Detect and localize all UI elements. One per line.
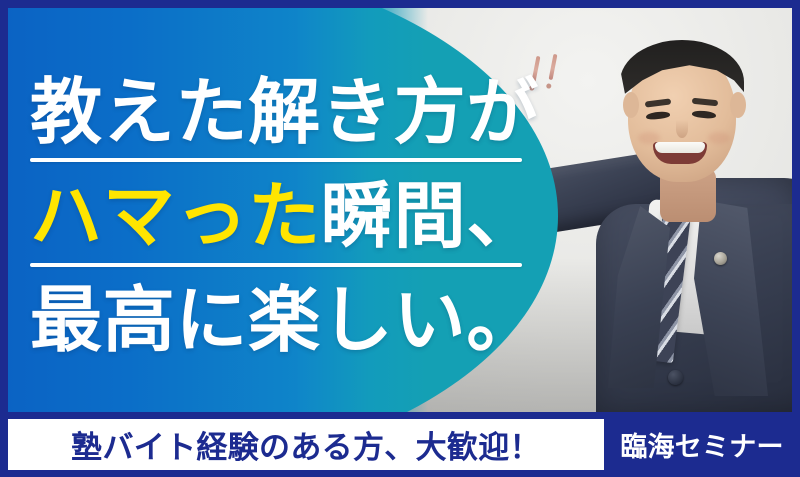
suit-button <box>668 370 683 385</box>
catch-copy-panel: 塾バイト経験のある方、大歓迎！ <box>8 419 604 470</box>
headline-block: 教えた解き方が ハマった瞬間、 最高に楽しい。 <box>16 16 556 412</box>
headline-line-2: ハマった瞬間、 <box>16 174 570 260</box>
ear-right <box>730 92 746 118</box>
cheek-right <box>708 132 730 144</box>
smiling-mouth <box>653 142 707 164</box>
headline-line-1: 教えた解き方が <box>16 70 570 156</box>
headline-line-2-rest: 瞬間、 <box>321 177 539 257</box>
headline-line-3: 最高に楽しい。 <box>16 278 570 364</box>
catch-copy-text: 塾バイト経験のある方、大歓迎！ <box>71 422 541 467</box>
headline-highlight-text: ハマった <box>30 177 321 257</box>
brand-name-text: 臨海セミナー <box>620 425 784 464</box>
recruitment-banner: 教えた解き方が ハマった瞬間、 最高に楽しい。 塾バイト経験のある方、大歓迎！ … <box>0 0 800 477</box>
ear-left <box>623 92 639 118</box>
headline-divider-1 <box>30 158 522 162</box>
nose <box>676 120 688 138</box>
lapel-pin-icon <box>714 252 727 265</box>
headline-divider-2 <box>30 263 522 267</box>
teeth <box>655 142 705 153</box>
footer-bar: 塾バイト経験のある方、大歓迎！ 臨海セミナー <box>0 412 800 477</box>
hero-visual-area: 教えた解き方が ハマった瞬間、 最高に楽しい。 <box>8 8 792 412</box>
brand-logo: 臨海セミナー <box>612 419 792 470</box>
